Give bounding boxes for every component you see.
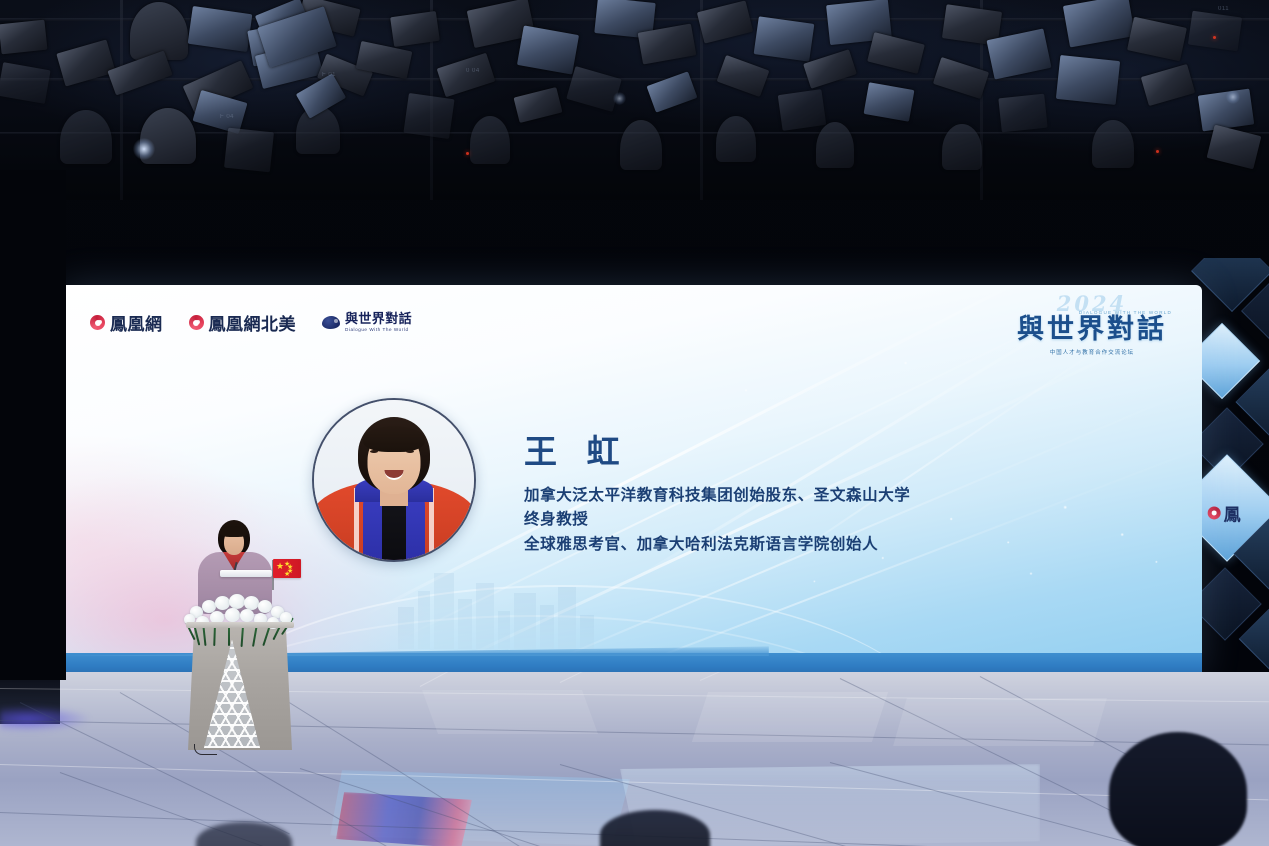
- stage-light-fixture: [754, 16, 815, 61]
- speaker-name: 王 虹: [524, 435, 1084, 468]
- speaker-title-line-1: 加拿大泛太平洋教育科技集团创始股东、圣文森山大学: [524, 483, 1084, 507]
- stage-light-fixture: [716, 116, 756, 162]
- speaker-info-block: 王 虹 加拿大泛太平洋教育科技集团创始股东、圣文森山大学 终身教授 全球雅思考官…: [524, 435, 1084, 556]
- chinese-flag-icon: ★ ★ ★ ★ ★: [273, 559, 301, 578]
- blue-blob-icon: [322, 316, 340, 329]
- speaker-portrait-photo: [312, 398, 476, 562]
- dialogue-with-the-world-logo: 與世界對話 Dialogue With The World: [322, 313, 412, 333]
- floor-regalia-reflection: [336, 792, 472, 846]
- stage-light-fixture: [470, 116, 510, 164]
- stage-light-fixture: [437, 53, 496, 98]
- phoenix-swirl-icon: [90, 315, 105, 330]
- stage-light-fixture: [1056, 55, 1120, 105]
- stage-light-fixture: [697, 0, 753, 43]
- podium-cable: [194, 744, 217, 755]
- event-subtitle: 中国人才与教育合作交流论坛: [1006, 348, 1178, 356]
- ceiling-lighting-truss: 011 F 01 F 04 0 04: [0, 0, 1269, 200]
- stage-light-fixture: [566, 66, 622, 112]
- stage-light-fixture: [864, 82, 915, 122]
- phoenix-swirl-icon: [1208, 506, 1221, 519]
- speaker-title-line-3: 全球雅思考官、加拿大哈利法克斯语言学院创始人: [524, 532, 1084, 556]
- podium-top-edge: [186, 622, 294, 628]
- screen-brand-logo-row: 鳳凰網 鳳凰網北美 與世界對話 Dialogue With The World: [90, 310, 412, 335]
- illuminated-lamp-glow: [1226, 90, 1240, 104]
- city-skyline-watermark: [392, 559, 612, 649]
- truss-label: 011: [1218, 6, 1229, 12]
- event-title-mark: 2024 DIALOGUE WITH THE WORLD 與世界對話 中国人才与…: [1006, 293, 1178, 356]
- stage-light-fixture: [816, 122, 854, 168]
- ifeng-north-america-logo-text: 鳳凰網北美: [209, 310, 297, 335]
- stage-light-fixture: [1127, 17, 1187, 61]
- truss-label: 0 04: [466, 68, 480, 74]
- ifeng-logo-text: 鳳凰網: [110, 310, 163, 335]
- stage-light-fixture: [803, 49, 857, 89]
- stage-light-fixture: [60, 110, 112, 164]
- phoenix-logo-char: 鳳: [1224, 500, 1241, 525]
- stage-floor: [0, 672, 1269, 846]
- stage-light-fixture: [1141, 64, 1195, 106]
- speaker-podium: ★ ★ ★ ★ ★: [176, 512, 302, 750]
- desk-microphone: [220, 570, 272, 577]
- stage-light-fixture: [998, 94, 1047, 133]
- event-main-title: 與世界對話: [1006, 316, 1178, 343]
- audience-member-silhouette: [1109, 732, 1247, 846]
- stage-light-fixture: [188, 6, 253, 52]
- dialogue-logo-text: 與世界對話: [345, 313, 412, 326]
- stage-light-fixture: [1188, 11, 1242, 52]
- speaker-title-line-2: 终身教授: [524, 507, 1084, 531]
- stage-light-fixture: [403, 93, 454, 139]
- stage-light-fixture: [717, 55, 770, 97]
- illuminated-lamp-glow: [613, 92, 626, 105]
- stage-light-fixture: [224, 128, 274, 173]
- ifeng-logo: 鳳凰網: [90, 310, 163, 335]
- stage-light-fixture: [193, 90, 248, 134]
- ifeng-north-america-logo: 鳳凰網北美: [189, 310, 297, 335]
- stage-light-fixture: [778, 89, 827, 131]
- dialogue-logo-subtitle: Dialogue With The World: [345, 328, 412, 332]
- event-english-title: DIALOGUE WITH THE WORLD: [1079, 310, 1172, 315]
- stage-light-fixture: [620, 120, 662, 170]
- phoenix-swirl-icon: [189, 315, 204, 330]
- stage-light-fixture: [0, 62, 51, 104]
- stage-light-fixture: [514, 87, 563, 123]
- floor-blue-light-spill: [0, 706, 90, 732]
- live-speaker-hair: [220, 526, 248, 537]
- stage-light-fixture: [867, 32, 925, 74]
- stage-light-fixture: [1063, 0, 1135, 47]
- truss-label: F 01: [322, 72, 336, 78]
- stage-light-fixture: [942, 124, 982, 170]
- truss-label: F 04: [220, 114, 234, 120]
- stage-light-fixture: [0, 20, 47, 55]
- stage-left-dark-wing: [0, 170, 66, 680]
- podium-flower-arrangement: [182, 594, 298, 642]
- stage-light-fixture: [1092, 120, 1134, 168]
- stage-light-fixture: [517, 25, 579, 74]
- stage-light-fixture: [390, 11, 440, 47]
- audience-member-silhouette: [196, 822, 292, 846]
- conference-stage-screenshot: 011 F 01 F 04 0 04 鳳: [0, 0, 1269, 846]
- illuminated-lamp-glow: [133, 138, 155, 160]
